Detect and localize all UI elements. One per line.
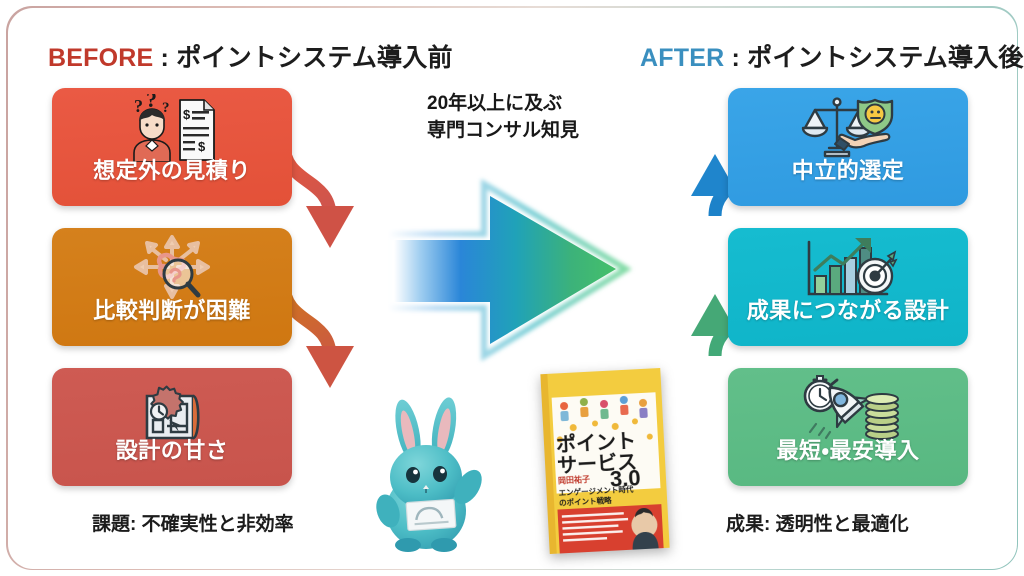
connector-arrow-before-1 xyxy=(282,142,392,257)
before-summary-caption: 課題: 不確実性と非効率 xyxy=(92,509,294,536)
transformation-arrow-icon xyxy=(388,168,658,373)
before-card-3-label: 設計の甘さ xyxy=(116,440,229,462)
before-card-2[interactable]: 比較判断が困難 xyxy=(52,228,292,346)
confused-person-invoice-icon: ? ? ? $ $ xyxy=(52,88,292,162)
svg-text:$: $ xyxy=(198,139,206,154)
center-note-line2: 専門コンサル知見 xyxy=(427,118,637,145)
book-author: 岡田祐子 xyxy=(558,474,590,486)
before-card-1-label: 想定外の見積り xyxy=(93,160,251,182)
blueprint-gear-icon xyxy=(52,368,292,442)
after-separator: : xyxy=(724,44,747,72)
after-summary-caption: 成果: 透明性と最適化 xyxy=(726,509,909,536)
after-card-3-label: 最短・最安導入 xyxy=(777,440,920,462)
before-card-3[interactable]: 設計の甘さ xyxy=(52,368,292,486)
bunny-mascot xyxy=(352,395,512,557)
before-column-heading: BEFORE : ポイントシステム導入前 xyxy=(48,38,453,74)
after-card-1[interactable]: 中立的選定 xyxy=(728,88,968,206)
before-separator: : xyxy=(153,44,176,72)
slide-root: BEFORE : ポイントシステム導入前 AFTER : ポイントシステム導入後… xyxy=(0,0,1024,576)
stopwatch-rocket-coins-icon xyxy=(728,368,968,442)
svg-text:?: ? xyxy=(134,96,143,116)
balance-scale-shield-icon xyxy=(728,88,968,162)
after-column-heading: AFTER : ポイントシステム導入後 xyxy=(640,38,1024,74)
after-keyword: AFTER xyxy=(640,44,724,72)
connector-arrow-before-2 xyxy=(282,282,392,397)
before-card-1[interactable]: ? ? ? $ $ xyxy=(52,88,292,206)
before-keyword: BEFORE xyxy=(48,44,153,72)
center-note-line1: 20年以上に及ぶ xyxy=(427,91,637,118)
book-cover: ポイント サービス 3.0 岡田祐子 エンゲージメント時代 のポイント戦略 xyxy=(540,368,669,554)
svg-text:$: $ xyxy=(183,107,191,122)
after-heading-text: ポイントシステム導入後 xyxy=(747,44,1023,72)
growth-chart-target-icon xyxy=(728,228,968,302)
after-card-2[interactable]: 成果につながる設計 xyxy=(728,228,968,346)
tangled-arrows-magnifier-icon xyxy=(52,228,292,302)
after-card-2-label: 成果につながる設計 xyxy=(747,300,950,322)
before-card-2-label: 比較判断が困難 xyxy=(93,300,251,322)
before-heading-text: ポイントシステム導入前 xyxy=(176,44,452,72)
svg-text:?: ? xyxy=(162,100,170,116)
center-consulting-note: 20年以上に及ぶ 専門コンサル知見 xyxy=(427,91,637,145)
after-card-3[interactable]: 最短・最安導入 xyxy=(728,368,968,486)
after-card-1-label: 中立的選定 xyxy=(792,160,905,182)
